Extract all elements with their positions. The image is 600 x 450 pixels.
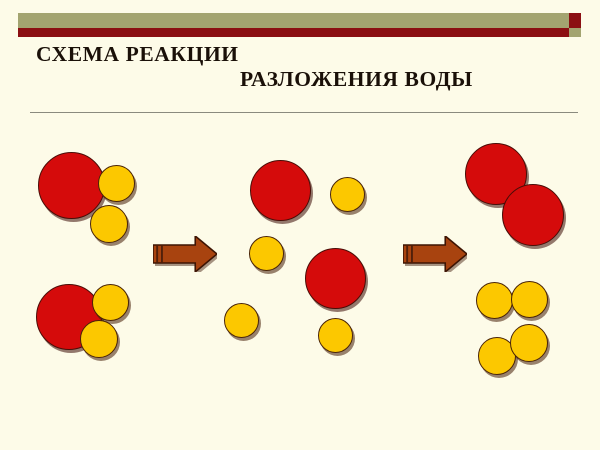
slide-title-line-2: РАЗЛОЖЕНИЯ ВОДЫ [0,67,600,92]
hydrogen-atom [510,324,548,362]
header-bar-bottom [18,28,581,37]
hydrogen-atom [318,318,353,353]
oxygen-atom [250,160,311,221]
arrow-1 [153,236,217,272]
hydrogen-atom [98,165,135,202]
header-bar-bottom-cap [569,28,581,37]
slide-canvas: СХЕМА РЕАКЦИИ РАЗЛОЖЕНИЯ ВОДЫ [0,0,600,450]
hydrogen-atom [80,320,118,358]
slide-title: СХЕМА РЕАКЦИИ РАЗЛОЖЕНИЯ ВОДЫ [0,42,600,92]
hydrogen-atom [249,236,284,271]
arrow-2 [403,236,467,272]
hydrogen-atom [476,282,513,319]
slide-title-line-1: СХЕМА РЕАКЦИИ [0,42,600,67]
oxygen-atom [305,248,366,309]
hydrogen-atom [224,303,259,338]
header-bar-top-cap [569,13,581,28]
hydrogen-atom [90,205,128,243]
oxygen-atom [38,152,105,219]
header-bar-top [18,13,581,28]
title-divider [30,112,578,113]
hydrogen-atom [330,177,365,212]
hydrogen-atom [511,281,548,318]
hydrogen-atom [92,284,129,321]
oxygen-atom [502,184,564,246]
